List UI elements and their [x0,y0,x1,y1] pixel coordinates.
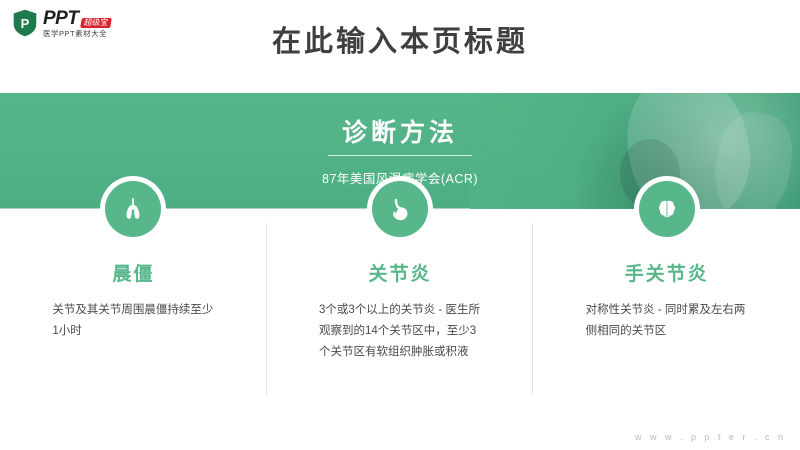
stomach-icon [372,181,428,237]
feature-body-2: 3个或3个以上的关节炎 - 医生所观察到的14个关节区中，至少3个关节区有软组织… [319,300,481,363]
feature-title-1: 晨僵 [112,259,154,286]
panel-title-underline [328,155,472,156]
lungs-icon [105,181,161,237]
panel-title: 诊断方法 [0,113,800,149]
doctor-photo [470,93,800,209]
feature-body-3: 对称性关节炎 - 同时累及左右两侧相同的关节区 [586,300,748,342]
feature-title-3: 手关节炎 [625,259,709,286]
brain-icon [639,181,695,237]
content-panel: 诊断方法 87年美国风湿病学会(ACR) 晨僵 关节及其关节周围晨僵持续至少1小… [0,93,800,423]
feature-title-2: 关节炎 [369,259,432,286]
feature-body-1: 关节及其关节周围晨僵持续至少1小时 [52,300,214,342]
feature-column-1: 晨僵 关节及其关节周围晨僵持续至少1小时 [0,209,267,423]
feature-column-3: 手关节炎 对称性关节炎 - 同时累及左右两侧相同的关节区 [533,209,800,423]
feature-column-2: 关节炎 3个或3个以上的关节炎 - 医生所观察到的14个关节区中，至少3个关节区… [267,209,534,423]
page-title: 在此输入本页标题 [0,18,800,60]
feature-columns: 晨僵 关节及其关节周围晨僵持续至少1小时 关节炎 3个或3个以上的关节炎 - 医… [0,209,800,423]
watermark: w w w . p p t e r . c n [635,432,786,442]
